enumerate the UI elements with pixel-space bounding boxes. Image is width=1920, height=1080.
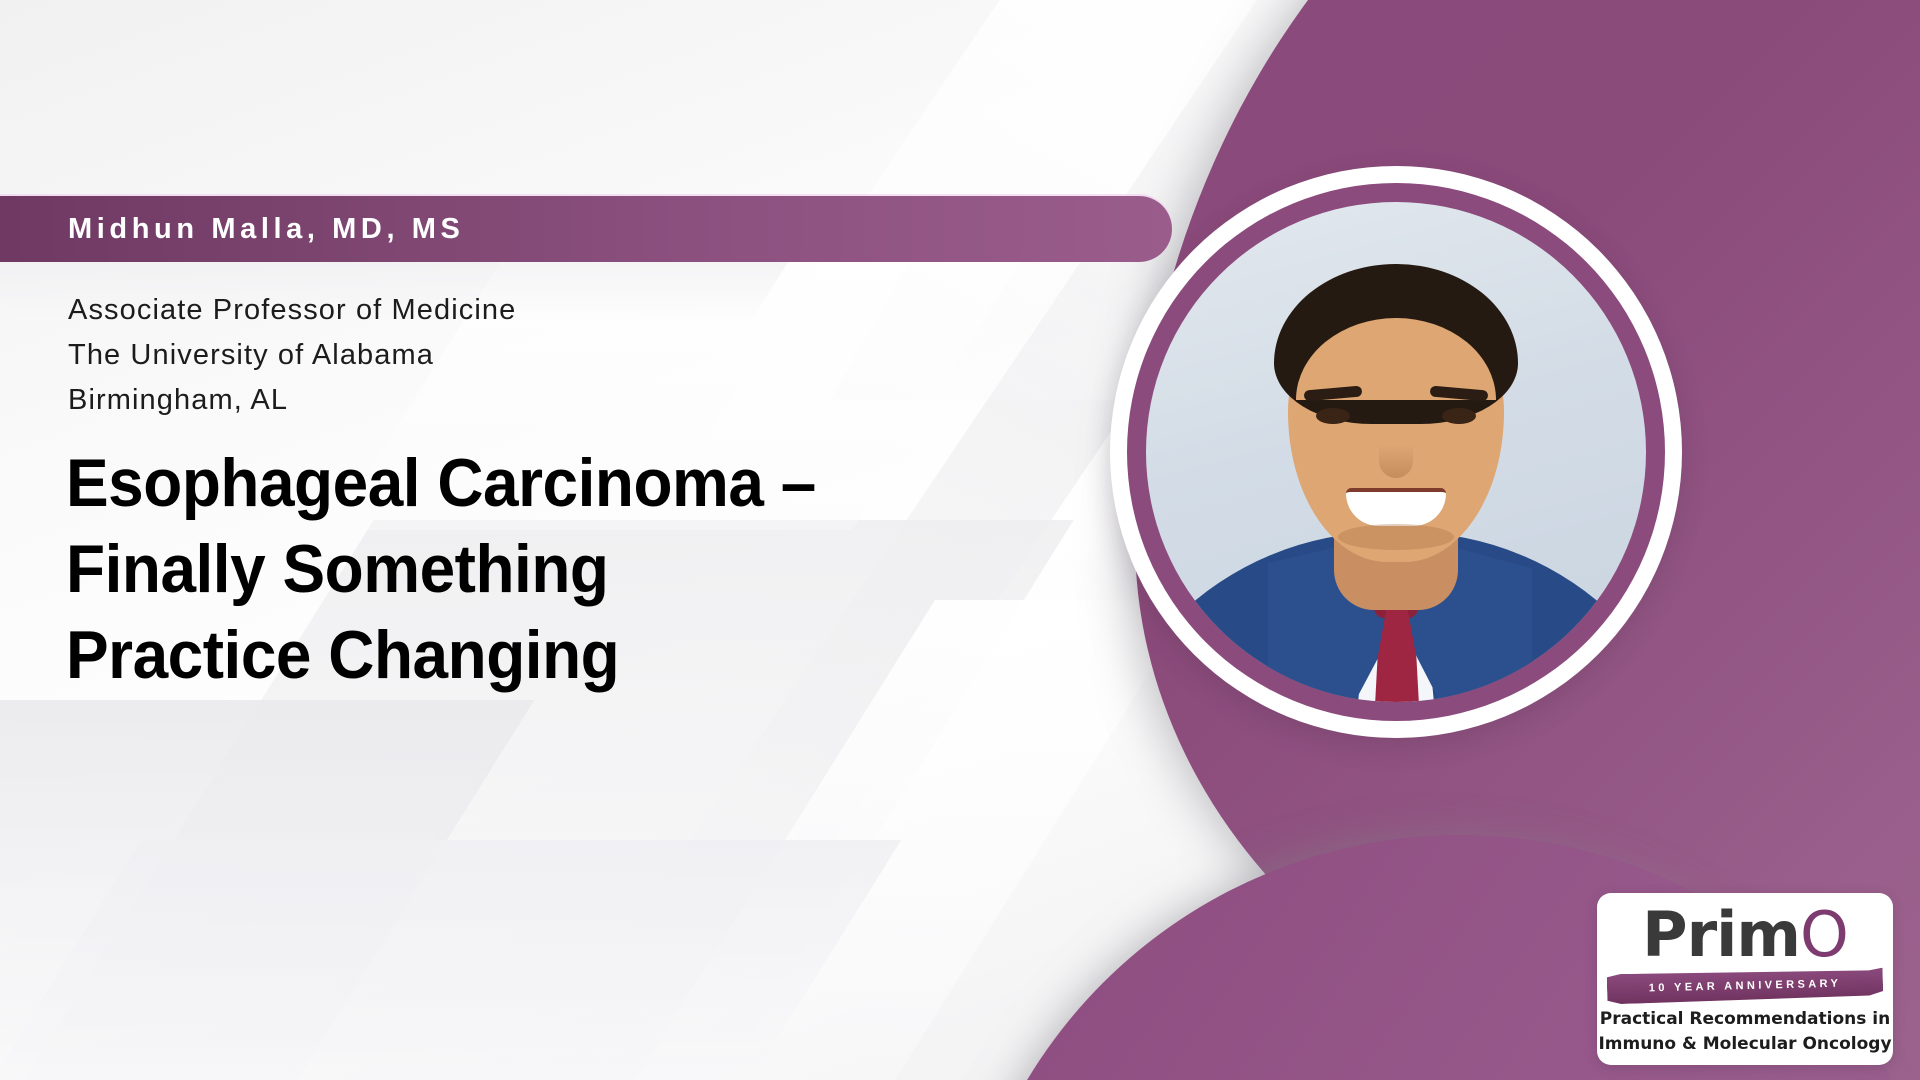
- speaker-portrait: [1110, 166, 1682, 738]
- tagline-line-2: Immuno & Molecular Oncology: [1597, 1032, 1893, 1057]
- speaker-affiliation: Associate Professor of Medicine The Univ…: [68, 288, 516, 423]
- title-line-1: Esophageal Carcinoma –: [66, 440, 1062, 526]
- portrait-eye-right: [1442, 408, 1476, 424]
- portrait-chin-shadow: [1338, 524, 1454, 550]
- primo-tagline: Practical Recommendations in Immuno & Mo…: [1597, 1007, 1893, 1057]
- primo-wordmark: PrimO: [1597, 899, 1893, 971]
- primo-logo: PrimO 10 YEAR ANNIVERSARY Practical Reco…: [1597, 893, 1893, 1065]
- affiliation-line-3: Birmingham, AL: [68, 378, 516, 423]
- portrait-photo: [1146, 202, 1646, 702]
- primo-wordmark-accent-o: O: [1800, 898, 1848, 971]
- anniversary-ribbon-text: 10 YEAR ANNIVERSARY: [1649, 978, 1842, 995]
- title-line-3: Practice Changing: [66, 612, 1062, 698]
- portrait-smile: [1346, 488, 1446, 526]
- page-title: Esophageal Carcinoma – Finally Something…: [66, 440, 1062, 698]
- portrait-nose: [1379, 434, 1413, 478]
- primo-wordmark-prefix: Prim: [1642, 898, 1800, 971]
- affiliation-line-2: The University of Alabama: [68, 333, 516, 378]
- anniversary-ribbon: 10 YEAR ANNIVERSARY: [1607, 968, 1884, 1005]
- portrait-eye-left: [1316, 408, 1350, 424]
- speaker-name-banner: Midhun Malla, MD, MS: [0, 196, 1172, 262]
- tagline-line-1: Practical Recommendations in: [1597, 1007, 1893, 1032]
- speaker-name: Midhun Malla, MD, MS: [68, 213, 465, 246]
- title-slide: Midhun Malla, MD, MS Associate Professor…: [0, 0, 1920, 1080]
- title-line-2: Finally Something: [66, 526, 1062, 612]
- affiliation-line-1: Associate Professor of Medicine: [68, 288, 516, 333]
